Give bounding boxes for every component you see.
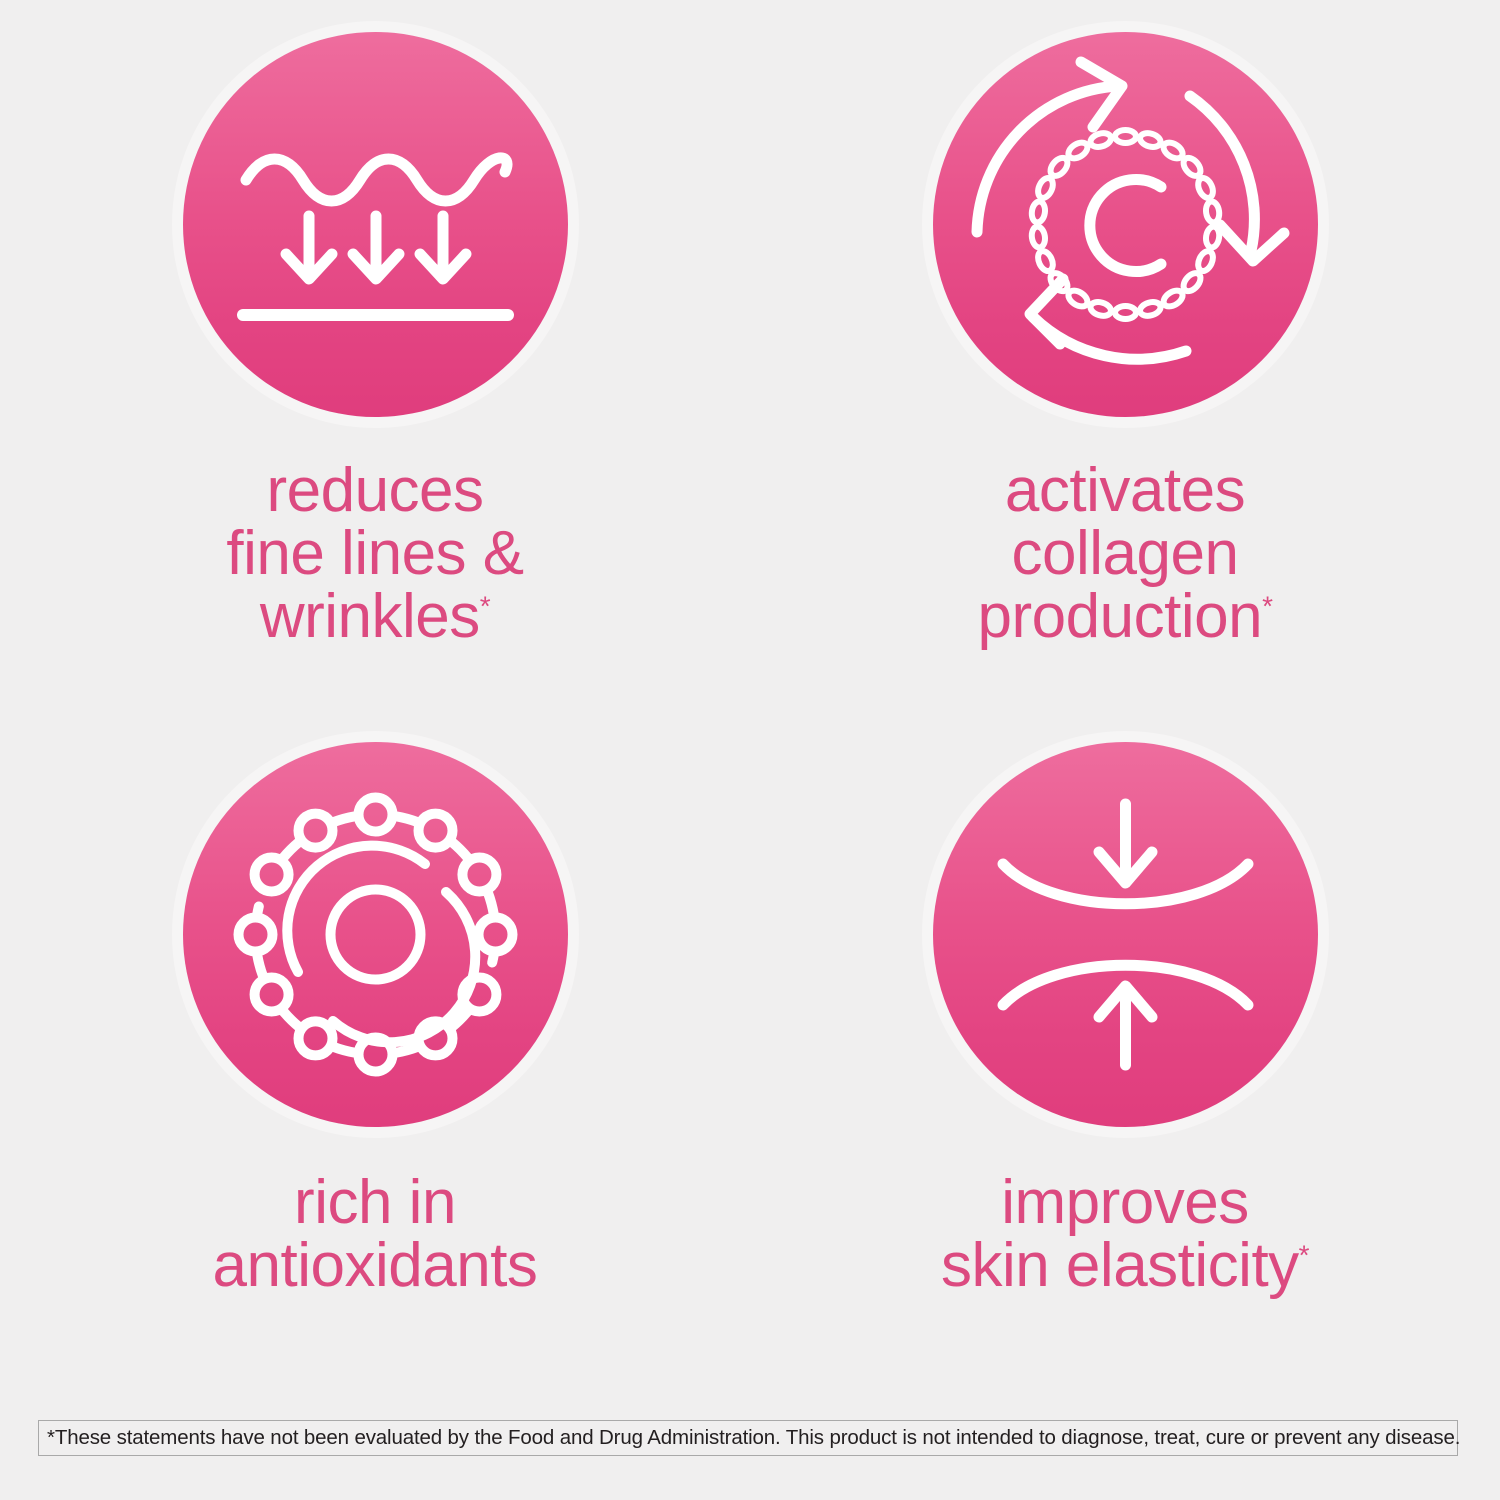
disclaimer-text: *These statements have not been evaluate… <box>47 1426 1460 1450</box>
benefit-card-reduces-fine-lines: reduces fine lines & wrinkles* <box>0 0 750 700</box>
dotted-ring <box>1030 130 1220 319</box>
badge-circle-2 <box>933 32 1318 417</box>
caption-line-2: skin elasticity <box>941 1231 1299 1300</box>
caption-line-1: activates <box>1005 456 1245 525</box>
disclaimer-box: *These statements have not been evaluate… <box>38 1420 1458 1456</box>
collagen-cycle-vitamin-c-icon <box>933 32 1318 417</box>
benefit-card-improves-skin-elasticity: improves skin elasticity* <box>750 700 1500 1390</box>
caption-line-1: rich in <box>294 1168 456 1237</box>
badge-circle-3 <box>183 742 568 1127</box>
footnote-asterisk-4: * <box>1299 1240 1309 1271</box>
benefit-card-rich-in-antioxidants: rich in antioxidants <box>0 700 750 1390</box>
antioxidant-molecule-icon <box>183 742 568 1127</box>
badge-circle-1 <box>183 32 568 417</box>
caption-line-1: improves <box>1001 1168 1249 1237</box>
skin-elasticity-icon <box>933 742 1318 1127</box>
wrinkle-reduction-icon <box>183 32 568 417</box>
caption-line-3: wrinkles <box>260 582 480 651</box>
caption-line-1: reduces <box>266 456 483 525</box>
caption-line-2: collagen <box>1012 519 1239 588</box>
benefit-caption-4: improves skin elasticity* <box>941 1171 1309 1297</box>
benefit-caption-1: reduces fine lines & wrinkles* <box>226 459 523 649</box>
benefit-caption-2: activates collagen production* <box>978 459 1273 649</box>
caption-line-2: antioxidants <box>213 1231 538 1300</box>
benefits-grid: reduces fine lines & wrinkles* <box>0 0 1500 1390</box>
caption-line-3: production <box>978 582 1263 651</box>
benefits-infographic: reduces fine lines & wrinkles* <box>0 0 1500 1500</box>
benefit-caption-3: rich in antioxidants <box>213 1171 538 1297</box>
caption-line-2: fine lines & <box>226 519 523 588</box>
benefit-card-activates-collagen: activates collagen production* <box>750 0 1500 700</box>
badge-circle-4 <box>933 742 1318 1127</box>
footnote-asterisk-2: * <box>1262 591 1272 622</box>
footnote-asterisk-1: * <box>480 591 490 622</box>
